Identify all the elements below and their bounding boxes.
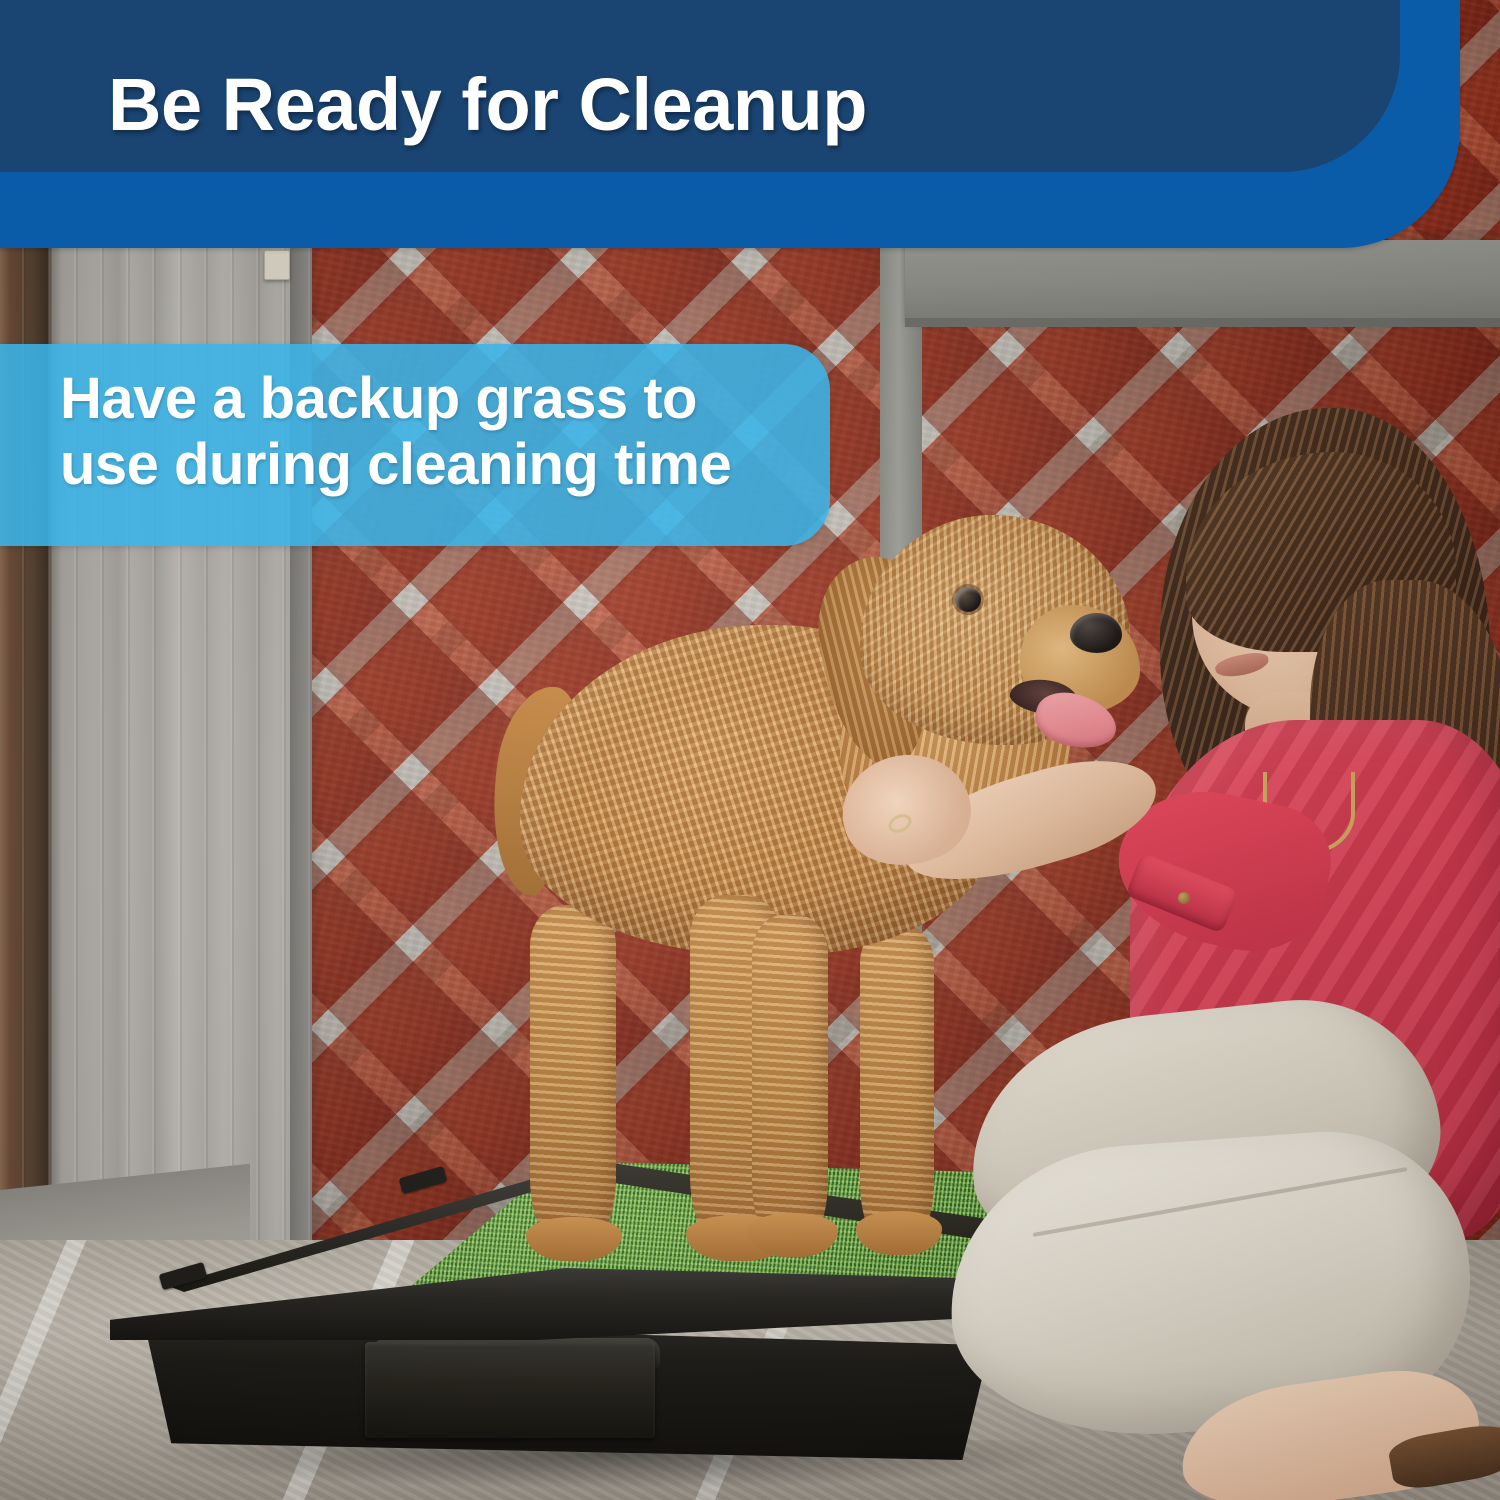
pad-collection-drawer: [365, 1342, 655, 1438]
dog-paw-front-far: [856, 1211, 942, 1255]
dog-front-leg-far: [860, 925, 934, 1245]
callout-box: Have a backup grass to use during cleani…: [0, 344, 830, 546]
dog-eye: [955, 587, 981, 612]
gray-header-trim: [905, 240, 1500, 322]
promo-image: Be Ready for Cleanup Have a backup grass…: [0, 0, 1500, 1500]
woman-petting-dog: [1010, 400, 1500, 1500]
callout-text: Have a backup grass to use during cleani…: [60, 366, 780, 497]
dog-paw-hind-far: [526, 1217, 622, 1261]
dog-hind-leg-far: [530, 905, 616, 1245]
pad-clip-back-left: [399, 1166, 448, 1194]
gray-header-trim-edge: [905, 318, 1500, 327]
page-title: Be Ready for Cleanup: [108, 62, 867, 147]
wall-outlet: [264, 250, 290, 280]
woman-cuff-button: [1178, 892, 1190, 904]
dog-front-leg-near: [752, 915, 828, 1245]
dog-paw-front-near: [748, 1213, 838, 1257]
